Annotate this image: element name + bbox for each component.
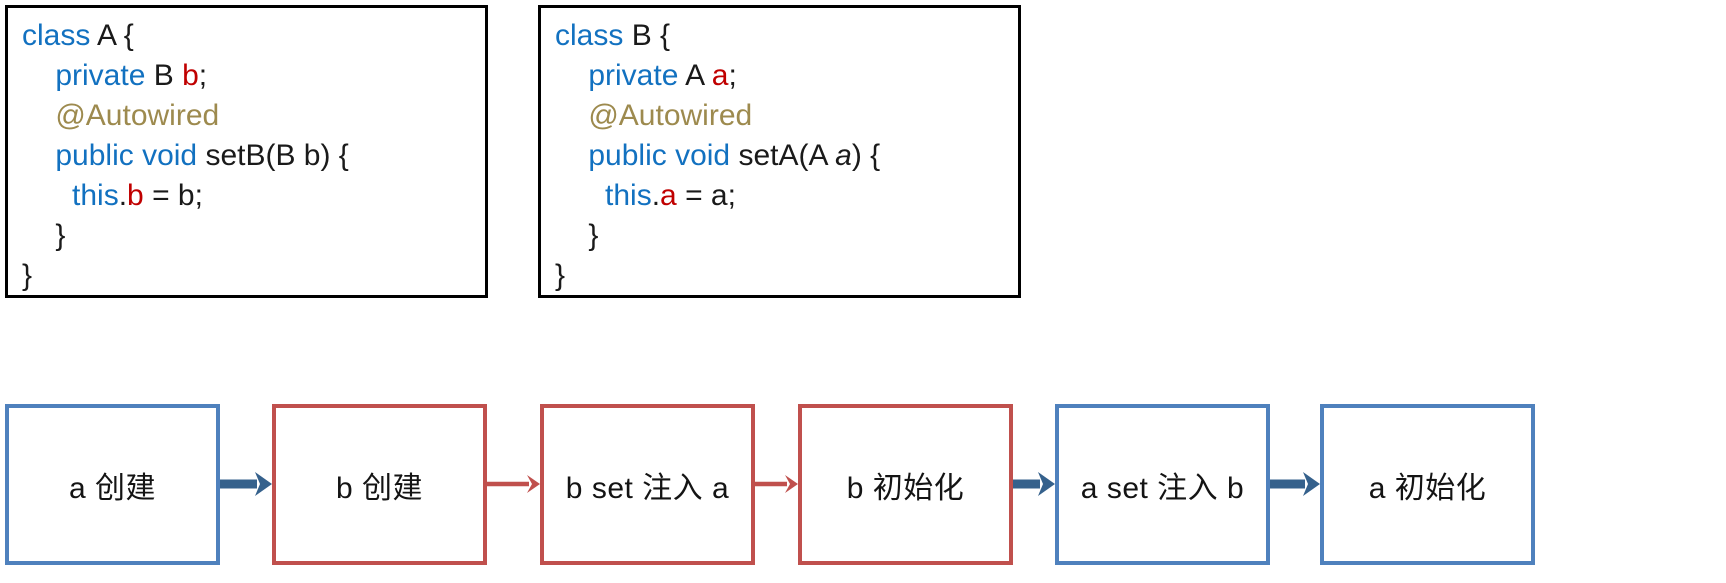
flow-arrow-1 [220, 468, 272, 500]
flow-diagram: a 创建b 创建b set 注入 ab 初始化a set 注入 ba 初始化 [0, 0, 1726, 583]
flow-step-box-1[interactable]: a 创建 [5, 404, 220, 565]
flow-step-label: a set 注入 b [1081, 463, 1244, 507]
flow-step-label: b 创建 [336, 463, 423, 507]
flow-step-label: a 初始化 [1369, 463, 1487, 507]
flow-step-box-2[interactable]: b 创建 [272, 404, 487, 565]
flow-arrow-3 [755, 468, 798, 500]
flow-arrow-5 [1270, 468, 1320, 500]
flow-step-box-6[interactable]: a 初始化 [1320, 404, 1535, 565]
flow-step-box-5[interactable]: a set 注入 b [1055, 404, 1270, 565]
flow-step-box-3[interactable]: b set 注入 a [540, 404, 755, 565]
flow-arrow-4 [1013, 468, 1055, 500]
flow-step-label: b 初始化 [847, 463, 965, 507]
flow-step-label: a 创建 [69, 463, 156, 507]
flow-step-label: b set 注入 a [566, 463, 729, 507]
flow-step-box-4[interactable]: b 初始化 [798, 404, 1013, 565]
flow-arrow-2 [487, 468, 540, 500]
